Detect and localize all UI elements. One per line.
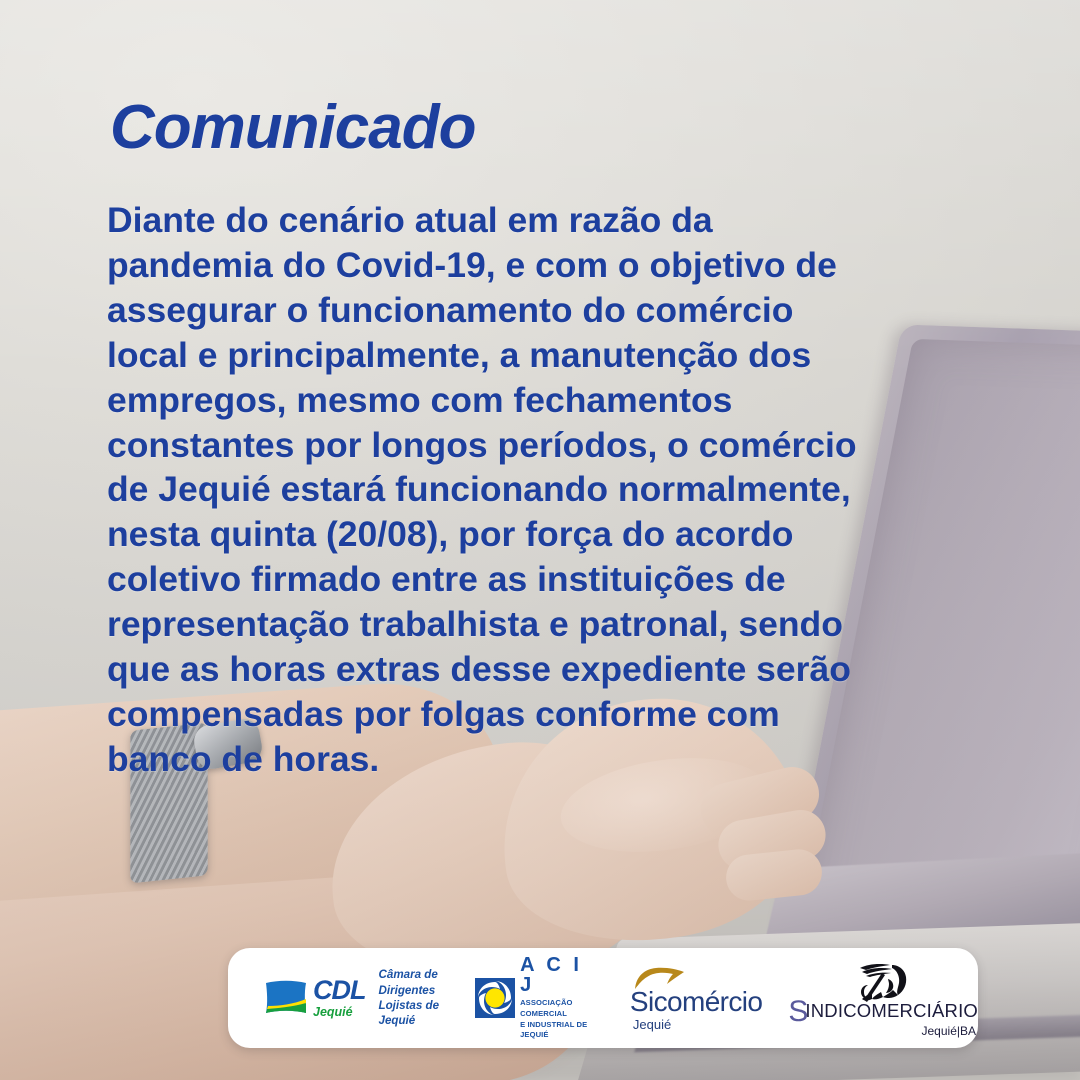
mercury-head-icon [852,959,914,1003]
logo-cdl: CDL Jequié Câmara de Dirigentes Lojistas… [264,967,447,1028]
page-title: Comunicado [110,92,475,163]
announcement-body: Diante do cenário atual em razão da pand… [107,198,879,782]
logo-sindicomerciario: S INDICOMERCIÁRIO Jequié|BA [788,959,978,1038]
acij-description: ASSOCIAÇÃO COMERCIAL E INDUSTRIAL DE JEQ… [520,998,600,1041]
social-post-card: Comunicado Diante do cenário atual em ra… [0,0,1080,1080]
acij-acronym: A C I J [520,955,600,995]
cdl-city: Jequié [313,1006,366,1019]
acij-wordmark: A C I J ASSOCIAÇÃO COMERCIAL E INDUSTRIA… [520,955,600,1041]
cdl-wordmark: CDL Jequié [313,977,366,1019]
sindicomerciario-wordmark: S INDICOMERCIÁRIO [788,999,978,1025]
sicomercio-name: Sicomércio [630,988,762,1016]
logo-acij: A C I J ASSOCIAÇÃO COMERCIAL E INDUSTRIA… [475,955,600,1041]
logo-sicomercio: Sicomércio Jequié [630,966,762,1031]
sindicomerciario-city: Jequié|BA [786,1025,980,1037]
partner-logo-bar: CDL Jequié Câmara de Dirigentes Lojistas… [228,948,978,1048]
sindicomerciario-name: INDICOMERCIÁRIO [805,1002,978,1021]
announcement-paragraph: Diante do cenário atual em razão da pand… [107,198,879,782]
cdl-description: Câmara de Dirigentes Lojistas de Jequié [379,967,448,1028]
acij-spiral-icon [475,978,515,1018]
cdl-flag-icon [264,979,308,1017]
sicomercio-city: Jequié [633,1018,671,1031]
cdl-acronym: CDL [313,977,366,1004]
